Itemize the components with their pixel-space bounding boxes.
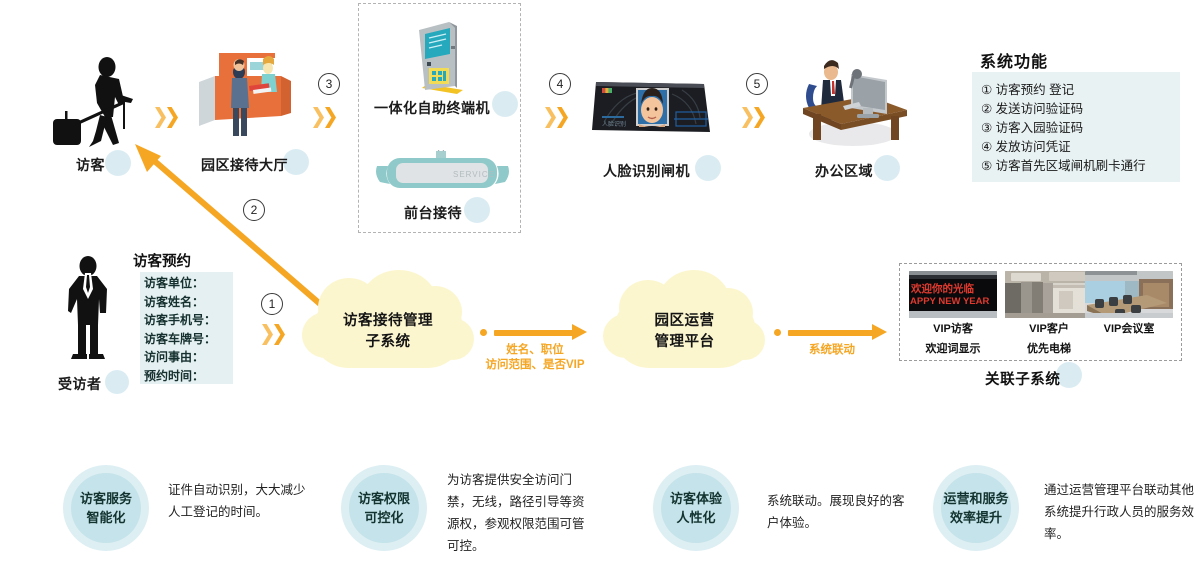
cloud-b-line1: 园区运营: [655, 311, 715, 332]
interviewee-silhouette: [58, 255, 118, 360]
meeting-room-photo: [1085, 271, 1173, 318]
sysfunc-item: ② 发送访问验证码: [981, 100, 1146, 119]
svg-text:欢迎你的光临: 欢迎你的光临: [910, 282, 974, 295]
cloud-visitor-reception-subsystem: 访客接待管理 子系统: [312, 296, 464, 368]
system-function-title: 系统功能: [980, 48, 1048, 72]
feature-title-line2: 人性化: [676, 508, 715, 527]
chevron-arrow-2: [313, 107, 336, 128]
sysfunc-item: ① 访客预约 登记: [981, 81, 1146, 100]
appointment-field-list: 访客单位： 访客姓名： 访客手机号： 访客车牌号： 访问事由： 预约时间：: [144, 274, 216, 386]
feature-description-1: 证件自动识别，大大减少人工登记的时间。: [168, 479, 314, 523]
feature-title-line2: 可控化: [364, 508, 403, 527]
appointment-field-label: 预约时间：: [144, 367, 216, 386]
arrow-dot: [480, 329, 487, 336]
feature-title-line1: 访客体验: [670, 489, 722, 508]
chevron-arrow-4: [742, 107, 765, 128]
step-number-4: 4: [549, 73, 571, 95]
step-number-1: 1: [261, 293, 283, 315]
kiosk-label-blob: [492, 91, 518, 117]
feature-circle-2[interactable]: 访客权限 可控化: [349, 473, 419, 543]
vip-caption-line2: 优先电梯: [1005, 341, 1093, 358]
vip-item: 欢迎你的光临 APPY NEW YEAR VIP访客 欢迎词显示: [909, 271, 997, 358]
arrow1-label-line1: 姓名、职位: [480, 343, 590, 358]
vip-item: VIP客户 优先电梯: [1005, 271, 1093, 358]
node-label-visitor: 访客: [76, 155, 105, 175]
svg-text:APPY NEW YEAR: APPY NEW YEAR: [910, 296, 990, 307]
system-function-list: ① 访客预约 登记 ② 发送访问验证码 ③ 访客入园验证码 ④ 发放访问凭证 ⑤…: [981, 81, 1146, 176]
cloud-b-line2: 管理平台: [655, 332, 715, 353]
frontdesk-label-blob: [464, 197, 490, 223]
feature-circle-3[interactable]: 访客体验 人性化: [661, 473, 731, 543]
flow-arrow-attributes: 姓名、职位 访问范围、是否VIP: [480, 325, 590, 375]
arrow1-label-line2: 访问范围、是否VIP: [480, 358, 590, 373]
reception-desk-illustration: [195, 50, 310, 150]
step-number-3: 3: [318, 73, 340, 95]
feature-description-3: 系统联动。展现良好的客户体验。: [767, 490, 913, 534]
node-label-lobby: 园区接待大厅: [201, 155, 288, 175]
self-service-kiosk: [405, 16, 475, 96]
walking-visitor-silhouette: [45, 55, 150, 150]
led-welcome-screen: 欢迎你的光临 APPY NEW YEAR: [909, 271, 997, 318]
sysfunc-item: ④ 发放访问凭证: [981, 138, 1146, 157]
feature-title-line1: 访客服务: [80, 489, 132, 508]
sysfunc-item: ⑤ 访客首先区域闸机刷卡通行: [981, 157, 1146, 176]
feature-title-line2: 智能化: [86, 508, 125, 527]
appointment-field-label: 访客姓名：: [144, 293, 216, 312]
svg-text:人脸识别: 人脸识别: [602, 120, 626, 128]
chevron-arrow-5: [262, 324, 285, 345]
infographic-canvas: 访客 园区接待大厅 3: [0, 0, 1202, 581]
feature-title-line2: 效率提升: [950, 508, 1002, 527]
facegate-label-blob: [695, 155, 721, 181]
appointment-field-label: 访问事由：: [144, 348, 216, 367]
node-label-kiosk: 一体化自助终端机: [374, 98, 490, 118]
interviewee-label-blob: [105, 370, 129, 394]
feature-circle-4[interactable]: 运营和服务 效率提升: [941, 473, 1011, 543]
appointment-field-label: 访客手机号：: [144, 311, 216, 330]
cloud-a-line1: 访客接待管理: [343, 311, 433, 332]
vip-caption-line1: VIP会议室: [1085, 321, 1173, 338]
step-number-2: 2: [243, 199, 265, 221]
face-recognition-terminal: 人脸识别: [586, 62, 716, 142]
appointment-field-label: 访客车牌号：: [144, 330, 216, 349]
office-desk-illustration: [795, 52, 915, 152]
chevron-arrow-3: [545, 107, 568, 128]
node-label-office: 办公区域: [815, 161, 873, 181]
related-subsystem-title: 关联子系统: [985, 368, 1061, 389]
vip-caption-line2: 欢迎词显示: [909, 341, 997, 358]
appointment-field-label: 访客单位：: [144, 274, 216, 293]
vip-item: VIP会议室: [1085, 271, 1173, 341]
feature-description-4: 通过运营管理平台联动其他系统提升行政人员的服务效率。: [1044, 479, 1194, 545]
node-label-frontdesk: 前台接待: [404, 203, 462, 223]
vip-caption-line1: VIP访客: [909, 321, 997, 338]
arrow2-label: 系统联动: [774, 343, 890, 358]
feature-description-2: 为访客提供安全访问门禁，无线，路径引导等资源权，参观权限范围可管可控。: [447, 469, 595, 557]
step-number-5: 5: [746, 73, 768, 95]
arrow-dot: [774, 329, 781, 336]
node-label-interviewee: 受访者: [58, 374, 102, 394]
office-label-blob: [874, 155, 900, 181]
feature-circle-1[interactable]: 访客服务 智能化: [71, 473, 141, 543]
cloud-park-operation-platform: 园区运营 管理平台: [613, 296, 756, 368]
chevron-arrow-1: [155, 107, 178, 128]
reception-counter: SERVICE: [375, 150, 510, 198]
vip-caption-line1: VIP客户: [1005, 321, 1093, 338]
cloud-a-line2: 子系统: [366, 332, 411, 353]
svg-text:SERVICE: SERVICE: [453, 170, 495, 179]
flow-arrow-system-linkage: 系统联动: [774, 325, 890, 365]
feature-title-line1: 访客权限: [358, 489, 410, 508]
feature-title-line1: 运营和服务: [943, 489, 1008, 508]
sysfunc-item: ③ 访客入园验证码: [981, 119, 1146, 138]
node-label-facegate: 人脸识别闸机: [603, 161, 690, 181]
elevator-lobby-photo: [1005, 271, 1093, 318]
